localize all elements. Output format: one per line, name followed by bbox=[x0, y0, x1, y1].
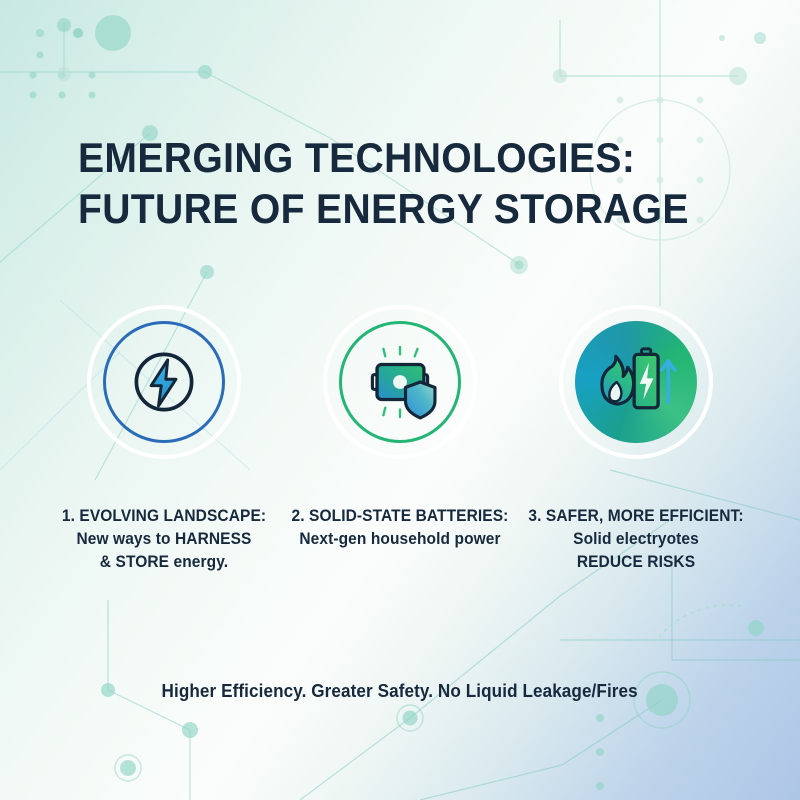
caption-line-2: Solid electryotes bbox=[525, 528, 747, 551]
caption-line-2: Next-gen household power bbox=[289, 528, 511, 551]
battery-with-shield-icon bbox=[354, 336, 446, 428]
caption-evolving-landscape: 1. EVOLVING LANDSCAPE: New ways to HARNE… bbox=[46, 505, 282, 574]
badge-evolving-landscape[interactable] bbox=[87, 305, 241, 459]
caption-heading: 2. SOLID-STATE BATTERIES: bbox=[289, 505, 511, 528]
caption-solid-state-batteries: 2. SOLID-STATE BATTERIES: Next-gen house… bbox=[282, 505, 518, 574]
caption-line-3: & STORE energy. bbox=[53, 551, 275, 574]
caption-line-2: New ways to HARNESS bbox=[53, 528, 275, 551]
caption-row: 1. EVOLVING LANDSCAPE: New ways to HARNE… bbox=[0, 505, 800, 574]
lightning-bolt-in-circle-icon bbox=[118, 336, 210, 428]
caption-line-3: REDUCE RISKS bbox=[525, 551, 747, 574]
caption-heading: 3. SAFER, MORE EFFICIENT: bbox=[525, 505, 747, 528]
title-line-2: FUTURE OF ENERGY STORAGE bbox=[78, 183, 673, 234]
footer-text: Higher Efficiency. Greater Safety. No Li… bbox=[162, 681, 638, 702]
flame-battery-up-arrow-icon bbox=[590, 336, 682, 428]
badge-row bbox=[0, 305, 800, 459]
page-title: EMERGING TECHNOLOGIES: FUTURE OF ENERGY … bbox=[78, 132, 718, 234]
footer-tagline: Higher Efficiency. Greater Safety. No Li… bbox=[0, 681, 800, 702]
badge-solid-state-batteries[interactable] bbox=[323, 305, 477, 459]
badge-safer-more-efficient[interactable] bbox=[559, 305, 713, 459]
caption-heading: 1. EVOLVING LANDSCAPE: bbox=[53, 505, 275, 528]
caption-safer-more-efficient: 3. SAFER, MORE EFFICIENT: Solid electryo… bbox=[518, 505, 754, 574]
title-line-1: EMERGING TECHNOLOGIES: bbox=[78, 132, 673, 183]
infographic-canvas: EMERGING TECHNOLOGIES: FUTURE OF ENERGY … bbox=[0, 0, 800, 800]
